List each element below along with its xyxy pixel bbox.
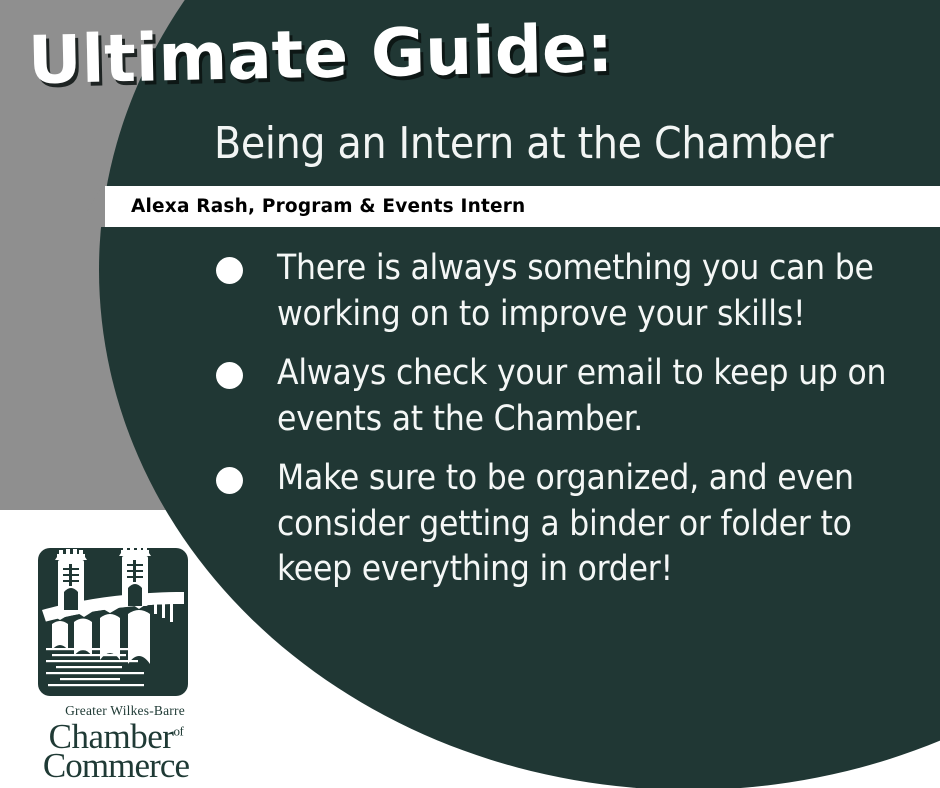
byline-band: Alexa Rash, Program & Events Intern <box>105 186 940 227</box>
list-item: Make sure to be organized, and even cons… <box>216 456 916 593</box>
logo-line-greater-wilkes-barre: Greater Wilkes-Barre <box>34 704 216 718</box>
infographic-canvas: Ultimate Guide: Being an Intern at the C… <box>0 0 940 788</box>
bullet-circle-icon <box>216 467 243 494</box>
tips-list: There is always something you can be wor… <box>216 246 916 607</box>
bullet-circle-icon <box>216 257 243 284</box>
page-subtitle: Being an Intern at the Chamber <box>214 122 833 166</box>
list-item: There is always something you can be wor… <box>216 246 916 337</box>
logo-caption: Greater Wilkes-Barre Chamberof Commerce <box>16 704 216 783</box>
logo-of-word: of <box>173 723 183 738</box>
list-item-text: Always check your email to keep up on ev… <box>277 351 916 442</box>
chamber-logo: Greater Wilkes-Barre Chamberof Commerce <box>16 548 216 783</box>
list-item: Always check your email to keep up on ev… <box>216 351 916 442</box>
bridge-illustration-icon <box>38 548 188 696</box>
bullet-circle-icon <box>216 362 243 389</box>
list-item-text: There is always something you can be wor… <box>277 246 897 337</box>
byline-text: Alexa Rash, Program & Events Intern <box>105 196 525 217</box>
page-title: Ultimate Guide: <box>27 16 613 94</box>
list-item-text: Make sure to be organized, and even cons… <box>277 456 877 593</box>
logo-line-commerce: Commerce <box>16 748 216 783</box>
